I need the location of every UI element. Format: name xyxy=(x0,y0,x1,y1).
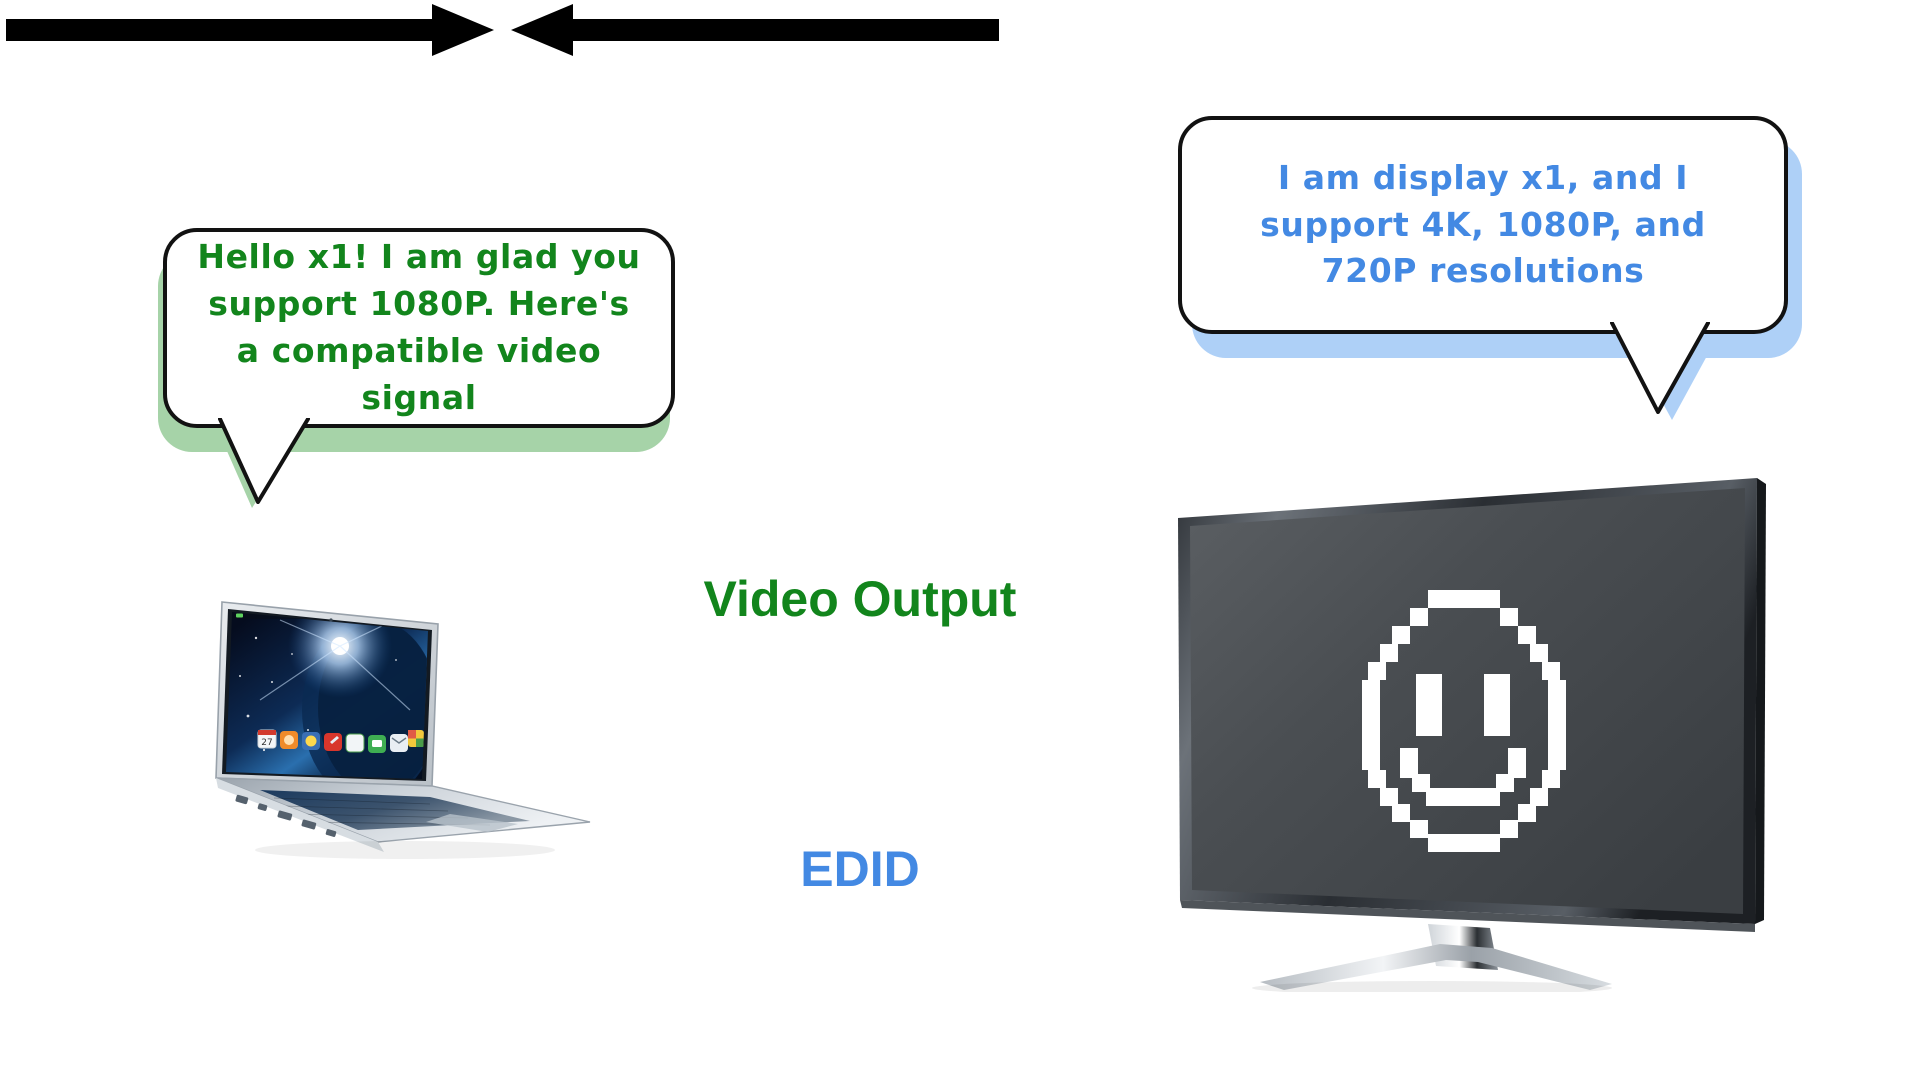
speech-bubble-laptop: Hello x1! I am glad you support 1080P. H… xyxy=(163,228,675,428)
video-output-label: Video Output xyxy=(630,570,1090,628)
laptop-device: 27 xyxy=(200,590,600,870)
diagram-canvas: Hello x1! I am glad you support 1080P. H… xyxy=(0,0,1920,1080)
blue-bubble-tail xyxy=(1610,322,1710,414)
edid-label: EDID xyxy=(630,840,1090,898)
display-device xyxy=(1160,462,1780,992)
speech-bubble-display-text: I am display x1, and I support 4K, 1080P… xyxy=(1182,155,1784,296)
speech-bubble-display: I am display x1, and I support 4K, 1080P… xyxy=(1178,116,1788,334)
video-output-arrow xyxy=(0,0,500,60)
edid-arrow xyxy=(505,0,1005,60)
speech-bubble-laptop-text: Hello x1! I am glad you support 1080P. H… xyxy=(167,234,671,421)
dock-calendar-day: 27 xyxy=(261,738,272,748)
green-bubble-tail xyxy=(218,418,310,504)
